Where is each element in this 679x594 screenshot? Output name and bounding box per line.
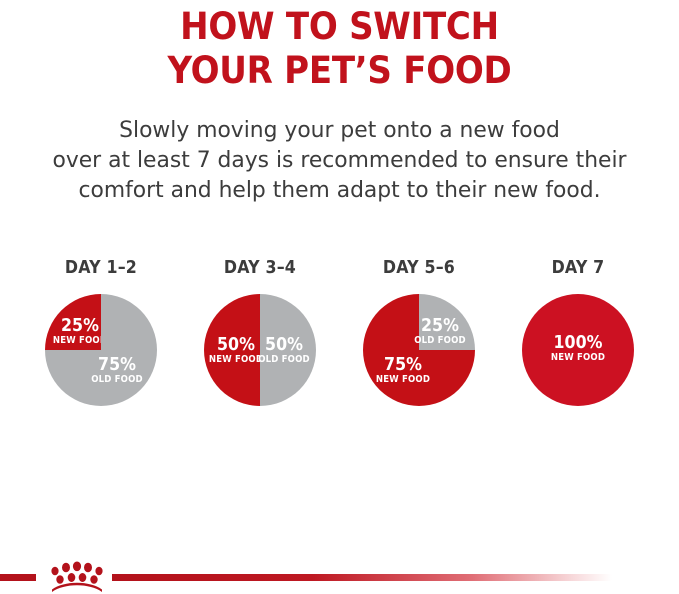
title-line-1: HOW TO SWITCH	[27, 5, 652, 49]
slice-sub-label: OLD FOOD	[258, 355, 310, 366]
crown-logo	[46, 558, 108, 594]
step-label: DAY 7	[552, 258, 605, 278]
transition-steps: DAY 1–225%NEW FOOD75%OLD FOODDAY 3–450%N…	[0, 258, 679, 448]
pie-chart: 50%NEW FOOD50%OLD FOOD	[203, 293, 317, 407]
slice-value: 50%	[217, 333, 255, 354]
slice-sub-label: OLD FOOD	[414, 336, 466, 347]
slice-sub-label: NEW FOOD	[209, 355, 263, 366]
footer	[0, 558, 679, 594]
intro-paragraph: Slowly moving your pet onto a new food o…	[0, 115, 679, 205]
slice-value: 100%	[554, 331, 603, 352]
pie-chart: 75%NEW FOOD25%OLD FOOD	[362, 293, 476, 407]
slice-sub-label: NEW FOOD	[53, 336, 107, 347]
step-1: DAY 1–225%NEW FOOD75%OLD FOOD	[30, 258, 172, 448]
step-label: DAY 1–2	[65, 258, 137, 278]
pie-chart: 25%NEW FOOD75%OLD FOOD	[44, 293, 158, 407]
step-4: DAY 7100%NEW FOOD	[507, 258, 649, 448]
slice-sub-label: NEW FOOD	[376, 375, 430, 386]
step-2: DAY 3–450%NEW FOOD50%OLD FOOD	[189, 258, 331, 448]
intro-line-1: Slowly moving your pet onto a new food	[10, 115, 669, 145]
title-line-2: YOUR PET’S FOOD	[27, 49, 652, 93]
footer-rule-left	[0, 574, 36, 581]
slice-value: 25%	[61, 314, 99, 335]
slice-sub-label: NEW FOOD	[551, 353, 605, 364]
page-title: HOW TO SWITCH YOUR PET’S FOOD	[0, 5, 679, 93]
footer-rule-right	[112, 574, 612, 581]
step-3: DAY 5–675%NEW FOOD25%OLD FOOD	[348, 258, 490, 448]
step-label: DAY 3–4	[224, 258, 296, 278]
infographic-page: HOW TO SWITCH YOUR PET’S FOOD Slowly mov…	[0, 0, 679, 594]
slice-value: 75%	[98, 353, 136, 374]
slice-value: 25%	[421, 314, 459, 335]
pie-chart: 100%NEW FOOD	[521, 293, 635, 407]
intro-line-2: over at least 7 days is recommended to e…	[10, 145, 669, 175]
slice-value: 75%	[384, 353, 422, 374]
step-label: DAY 5–6	[383, 258, 455, 278]
slice-value: 50%	[265, 333, 303, 354]
intro-line-3: comfort and help them adapt to their new…	[10, 175, 669, 205]
slice-sub-label: OLD FOOD	[91, 375, 143, 386]
